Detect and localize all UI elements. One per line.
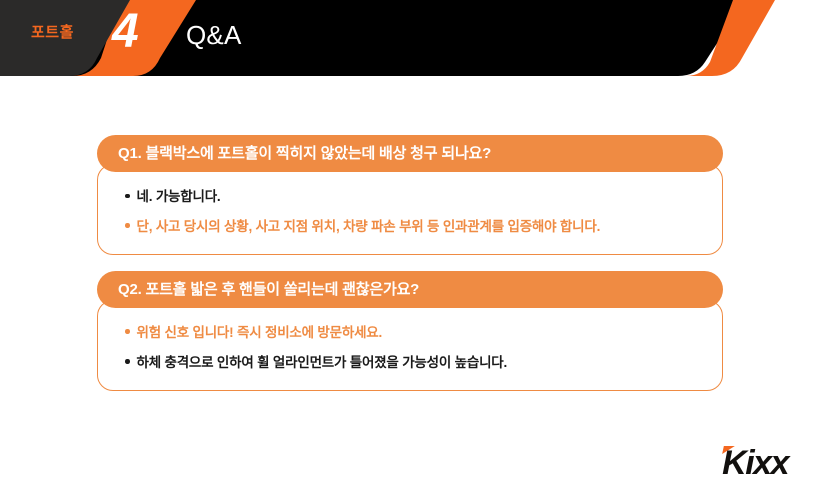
bullet-icon xyxy=(125,359,130,364)
qa-item: Q2. 포트홀 밟은 후 핸들이 쏠리는데 괜찮은가요? 위험 신호 입니다! … xyxy=(97,271,723,391)
answer-line: 하체 충격으로 인하여 휠 얼라인먼트가 틀어졌을 가능성이 높습니다. xyxy=(125,353,702,374)
answer-line: 단, 사고 당시의 상황, 사고 지점 위치, 차량 파손 부위 등 인과관계를… xyxy=(125,217,702,238)
answer-text: 위험 신호 입니다! 즉시 정비소에 방문하세요. xyxy=(137,323,383,344)
bullet-icon xyxy=(125,194,130,199)
question-text: Q2. 포트홀 밟은 후 핸들이 쏠리는데 괜찮은가요? xyxy=(118,282,419,297)
qa-item: Q1. 블랙박스에 포트홀이 찍히지 않았는데 배상 청구 되나요? 네. 가능… xyxy=(97,135,723,255)
header-chapter-number: 4 xyxy=(112,8,138,56)
page-title: Q&A xyxy=(186,22,242,48)
answer-text: 네. 가능합니다. xyxy=(137,187,221,208)
header-banner: 포트홀 4 Q&A xyxy=(0,0,816,76)
question-bar[interactable]: Q1. 블랙박스에 포트홀이 찍히지 않았는데 배상 청구 되나요? xyxy=(97,135,723,172)
question-bar[interactable]: Q2. 포트홀 밟은 후 핸들이 쏠리는데 괜찮은가요? xyxy=(97,271,723,308)
brand-logo-text: Kixx xyxy=(722,446,788,480)
bullet-icon xyxy=(125,329,130,334)
answer-text: 하체 충격으로 인하여 휠 얼라인먼트가 틀어졌을 가능성이 높습니다. xyxy=(137,353,508,374)
question-text: Q1. 블랙박스에 포트홀이 찍히지 않았는데 배상 청구 되나요? xyxy=(118,146,491,161)
brand-logo: Kixx xyxy=(668,440,788,480)
answer-line: 네. 가능합니다. xyxy=(125,187,702,208)
answer-line: 위험 신호 입니다! 즉시 정비소에 방문하세요. xyxy=(125,323,702,344)
answer-text: 단, 사고 당시의 상황, 사고 지점 위치, 차량 파손 부위 등 인과관계를… xyxy=(137,217,601,238)
answer-box: 네. 가능합니다. 단, 사고 당시의 상황, 사고 지점 위치, 차량 파손 … xyxy=(97,164,723,255)
answer-box: 위험 신호 입니다! 즉시 정비소에 방문하세요. 하체 충격으로 인하여 휠 … xyxy=(97,300,723,391)
header-kicker-label: 포트홀 xyxy=(31,25,74,40)
qa-list: Q1. 블랙박스에 포트홀이 찍히지 않았는데 배상 청구 되나요? 네. 가능… xyxy=(97,135,723,391)
bullet-icon xyxy=(125,223,130,228)
